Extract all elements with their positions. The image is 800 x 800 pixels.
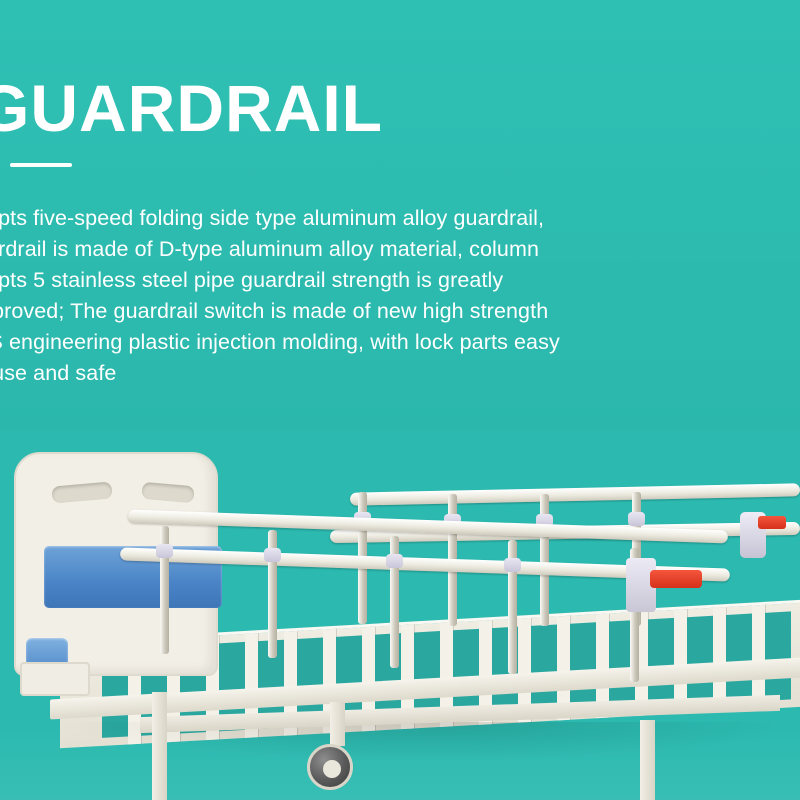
- guardrail-front-lock-lever[interactable]: [650, 570, 702, 588]
- guardrail-front-post-cap-2: [264, 548, 281, 562]
- product-banner: GUARDRAIL dopts five-speed folding side …: [0, 0, 800, 800]
- bed-leg-mid: [330, 702, 345, 746]
- description-paragraph: dopts five-speed folding side type alumi…: [0, 203, 664, 389]
- bed-leg-right: [640, 720, 655, 800]
- title-divider: [10, 163, 72, 167]
- bed-leg-left: [152, 692, 167, 800]
- guardrail-rear-lock-lever[interactable]: [758, 516, 786, 529]
- headboard-base: [20, 662, 90, 696]
- description-line-6: o use and safe: [0, 358, 664, 389]
- description-line-1: dopts five-speed folding side type alumi…: [0, 203, 664, 234]
- guardrail-front-post-cap-4: [504, 558, 521, 572]
- guardrail-front-post-cap-3: [386, 554, 403, 568]
- hospital-bed-photo: [0, 430, 800, 800]
- guardrail-rear-post-cap-4: [628, 512, 645, 526]
- headboard-handle-right: [141, 482, 194, 503]
- headboard-handle-left: [51, 481, 112, 503]
- description-line-3: dopts 5 stainless steel pipe guardrail s…: [0, 265, 664, 296]
- caster-hub: [323, 760, 341, 778]
- description-line-5: BS engineering plastic injection molding…: [0, 327, 664, 358]
- page-title: GUARDRAIL: [0, 72, 498, 144]
- guardrail-rear-top-bar: [350, 483, 800, 505]
- guardrail-front-post-cap-1: [156, 544, 173, 558]
- description-line-2: uardrail is made of D-type aluminum allo…: [0, 234, 664, 265]
- caster-wheel: [307, 744, 353, 790]
- description-line-4: mproved; The guardrail switch is made of…: [0, 296, 664, 327]
